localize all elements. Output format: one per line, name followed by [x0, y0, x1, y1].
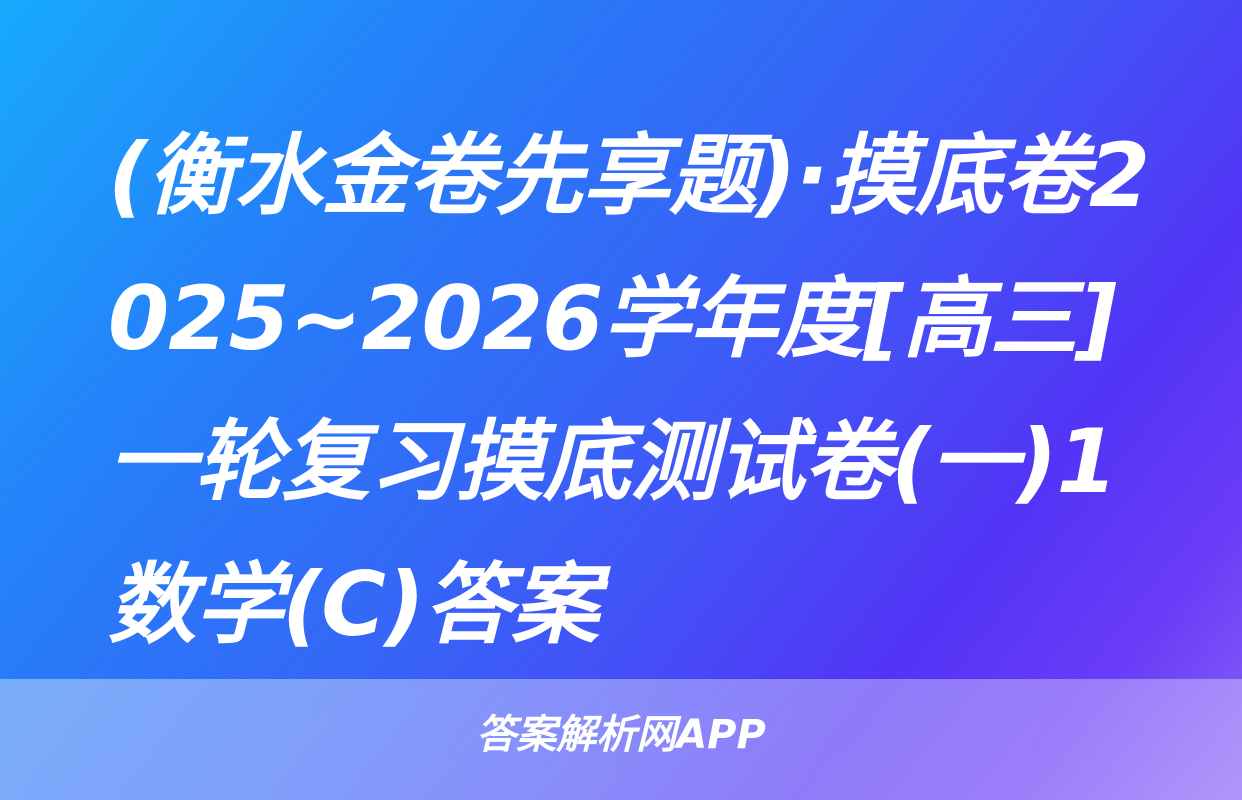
- watermark-app-name: 答案解析网APP: [476, 709, 766, 761]
- page-title: (衡水金卷先享题)·摸底卷2025~2026学年度[高三]一轮复习摸底测试卷(一…: [108, 104, 1164, 676]
- watermark: 答案解析网APP: [0, 709, 1242, 761]
- cover-card: (衡水金卷先享题)·摸底卷2025~2026学年度[高三]一轮复习摸底测试卷(一…: [0, 0, 1242, 800]
- title-block: (衡水金卷先享题)·摸底卷2025~2026学年度[高三]一轮复习摸底测试卷(一…: [108, 104, 1164, 664]
